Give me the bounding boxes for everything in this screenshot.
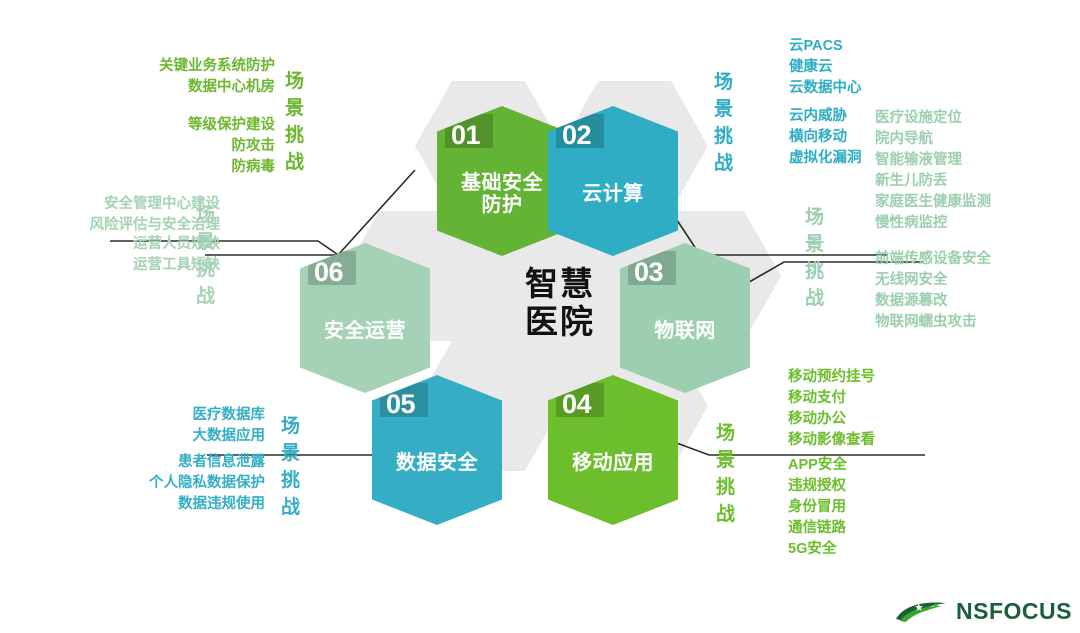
section-01-labels: 场景 挑战 [285,69,304,177]
hexagon-05[interactable]: 05 数据安全 [372,375,502,525]
hexagon-02-title: 云计算 [582,183,644,205]
hexagon-05-title: 数据安全 [396,452,478,474]
hexagon-01[interactable]: 01 基础安全 防护 [437,106,567,256]
nsfocus-wordmark: NSFOCUS [956,598,1072,625]
section-06-scenario-label: 场景 [196,203,215,257]
section-06-challenge-list: 运营人员短缺 运营工具短缺 [15,234,220,276]
hexagon-06-number: 06 [314,259,343,286]
section-03-challenge-list: 前端传感设备安全 无线网安全 数据源篡改 物联网蠕虫攻击 [875,249,1075,333]
section-01-challenge-label: 挑战 [285,123,304,177]
hexagon-02[interactable]: 02 云计算 [548,106,678,256]
section-04-challenge-label: 挑战 [716,475,735,529]
hexagon-01-title: 基础安全 防护 [461,172,543,217]
section-02-scenario-list: 云PACS 健康云 云数据中心 [789,36,929,99]
section-02-labels: 场景 挑战 [714,70,733,178]
section-05-scenario-label: 场景 [281,414,300,468]
section-06-scenario-list: 安全管理中心建设 风险评估与安全治理 [15,194,220,236]
section-04-scenario-label: 场景 [716,421,735,475]
section-03-scenario-list: 医疗设施定位 院内导航 智能输液管理 新生儿防丢 家庭医生健康监测 慢性病监控 [875,108,1075,234]
section-06-challenge-label: 挑战 [196,257,215,311]
swoosh-logo-mark [894,599,950,625]
hexagon-06[interactable]: 06 安全运营 [300,243,430,393]
hexagon-05-number: 05 [386,391,415,418]
section-01-challenge-list: 等级保护建设 防攻击 防病毒 [80,115,275,178]
section-02-challenge-list: 云内威胁 横向移动 虚拟化漏洞 [789,106,889,169]
section-06-labels: 场景 挑战 [196,203,215,311]
section-01-scenario-label: 场景 [285,69,304,123]
nsfocus-logo: NSFOCUS [894,598,1072,625]
section-03-challenge-label: 挑战 [805,259,824,313]
section-02-challenge-label: 挑战 [714,124,733,178]
hexagon-03-title: 物联网 [654,320,716,342]
section-05-challenge-list: 患者信息泄露 个人隐私数据保护 数据违规使用 [100,452,265,515]
center-title: 智慧 医院 [475,265,645,341]
diagram-canvas: 01 基础安全 防护 02 云计算 03 物联网 04 移动应用 05 数据安全… [0,0,1080,633]
section-03-scenario-label: 场景 [805,205,824,259]
section-05-scenario-list: 医疗数据库 大数据应用 [130,405,265,447]
hexagon-06-title: 安全运营 [324,320,406,342]
section-02-scenario-label: 场景 [714,70,733,124]
section-04-labels: 场景 挑战 [716,421,735,529]
hexagon-01-number: 01 [451,122,480,149]
hexagon-02-number: 02 [562,122,591,149]
section-03-labels: 场景 挑战 [805,205,824,313]
hexagon-04-number: 04 [562,391,591,418]
section-01-scenario-list: 关键业务系统防护 数据中心机房 [80,56,275,98]
hexagon-04-title: 移动应用 [572,452,654,474]
section-04-scenario-list: 移动预约挂号 移动支付 移动办公 移动影像查看 [788,367,948,451]
hexagon-04[interactable]: 04 移动应用 [548,375,678,525]
section-05-labels: 场景 挑战 [281,414,300,522]
section-04-challenge-list: APP安全 违规授权 身份冒用 通信链路 5G安全 [788,455,948,560]
section-05-challenge-label: 挑战 [281,468,300,522]
